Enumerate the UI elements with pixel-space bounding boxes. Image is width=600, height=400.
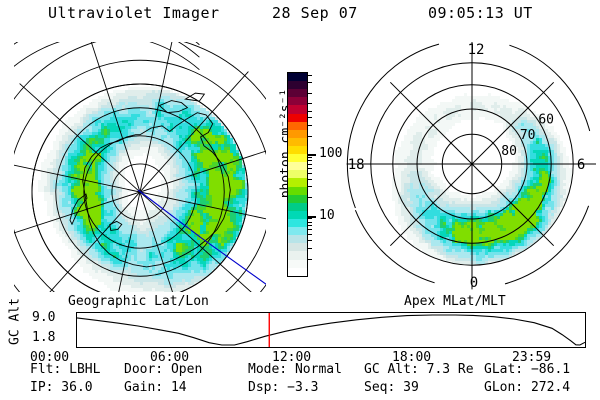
aurora-pixel (164, 258, 167, 261)
aurora-pixel (95, 105, 98, 108)
aurora-pixel (140, 249, 143, 252)
aurora-pixel (92, 129, 95, 132)
aurora-pixel (68, 207, 71, 210)
aurora-pixel (110, 138, 113, 141)
aurora-pixel (92, 177, 95, 180)
aurora-pixel (428, 177, 431, 180)
aurora-pixel (101, 141, 104, 144)
aurora-pixel (218, 135, 221, 138)
aurora-pixel (188, 180, 191, 183)
aurora-pixel (95, 102, 98, 105)
colorbar-segment (288, 122, 307, 130)
aurora-pixel (557, 165, 560, 168)
aurora-pixel (146, 231, 149, 234)
aurora-pixel (68, 153, 71, 156)
aurora-pixel (560, 198, 563, 201)
aurora-pixel (419, 138, 422, 141)
aurora-pixel (206, 144, 209, 147)
aurora-pixel (74, 156, 77, 159)
aurora-pixel (407, 150, 410, 153)
aurora-pixel (149, 105, 152, 108)
aurora-pixel (62, 147, 65, 150)
aurora-pixel (62, 192, 65, 195)
aurora-pixel (41, 186, 44, 189)
aurora-pixel (65, 141, 68, 144)
aurora-pixel (185, 126, 188, 129)
aurora-pixel (185, 195, 188, 198)
aurora-pixel (77, 234, 80, 237)
aurora-pixel (140, 225, 143, 228)
aurora-pixel (116, 189, 119, 192)
aurora-pixel (179, 135, 182, 138)
aurora-pixel (185, 240, 188, 243)
aurora-pixel (452, 114, 455, 117)
aurora-pixel (512, 165, 515, 168)
aurora-pixel (521, 165, 524, 168)
aurora-pixel (515, 165, 518, 168)
aurora-pixel (44, 195, 47, 198)
aurora-pixel (530, 195, 533, 198)
aurora-pixel (38, 186, 41, 189)
aurora-pixel (80, 114, 83, 117)
aurora-pixel (104, 177, 107, 180)
aurora-pixel (167, 291, 170, 292)
aurora-pixel (221, 249, 224, 252)
aurora-pixel (41, 189, 44, 192)
aurora-pixel (212, 162, 215, 165)
aurora-pixel (566, 177, 569, 180)
aurora-pixel (161, 219, 164, 222)
aurora-pixel (239, 192, 242, 195)
aurora-pixel (215, 237, 218, 240)
aurora-pixel (233, 156, 236, 159)
aurora-pixel (404, 165, 407, 168)
aurora-pixel (131, 114, 134, 117)
aurora-pixel (140, 213, 143, 216)
aurora-pixel (395, 207, 398, 210)
aurora-pixel (533, 156, 536, 159)
aurora-pixel (515, 111, 518, 114)
aurora-pixel (146, 228, 149, 231)
aurora-pixel (221, 195, 224, 198)
aurora-pixel (113, 189, 116, 192)
aurora-pixel (458, 117, 461, 120)
aurora-pixel (89, 210, 92, 213)
aurora-pixel (182, 204, 185, 207)
aurora-pixel (110, 93, 113, 96)
aurora-pixel (425, 204, 428, 207)
aurora-pixel (515, 108, 518, 111)
aurora-pixel (563, 189, 566, 192)
aurora-pixel (410, 147, 413, 150)
geographic-map-panel[interactable] (14, 42, 266, 292)
aurora-pixel (182, 237, 185, 240)
aurora-pixel (158, 258, 161, 261)
aurora-pixel (95, 126, 98, 129)
colorbar-segment (288, 73, 307, 81)
aurora-pixel (509, 192, 512, 195)
aurora-pixel (551, 186, 554, 189)
aurora-pixel (443, 204, 446, 207)
aurora-pixel (164, 144, 167, 147)
aurora-pixel (218, 153, 221, 156)
aurora-pixel (212, 180, 215, 183)
aurora-pixel (116, 252, 119, 255)
aurora-pixel (188, 204, 191, 207)
aurora-pixel (158, 132, 161, 135)
aurora-pixel (110, 249, 113, 252)
aurora-pixel (143, 150, 146, 153)
aurora-pixel (431, 177, 434, 180)
aurora-pixel (524, 117, 527, 120)
aurora-pixel (185, 111, 188, 114)
aurora-pixel (77, 231, 80, 234)
aurora-pixel (410, 180, 413, 183)
aurora-pixel (209, 156, 212, 159)
aurora-pixel (437, 183, 440, 186)
aurora-pixel (230, 213, 233, 216)
aurora-pixel (170, 204, 173, 207)
aurora-pixel (503, 204, 506, 207)
aurora-pixel (125, 228, 128, 231)
aurora-pixel (422, 129, 425, 132)
aurora-pixel (191, 252, 194, 255)
aurora-pixel (176, 249, 179, 252)
aurora-pixel (176, 240, 179, 243)
aurora-pixel (191, 177, 194, 180)
aurora-pixel (464, 204, 467, 207)
aurora-pixel (110, 117, 113, 120)
aurora-pixel (173, 270, 176, 273)
aurora-pixel (455, 99, 458, 102)
aurora-pixel (146, 249, 149, 252)
aurora-pixel (551, 192, 554, 195)
aurora-pixel (155, 96, 158, 99)
aurora-pixel (83, 219, 86, 222)
aurora-pixel (107, 276, 110, 279)
aurora-pixel (173, 291, 176, 292)
aurora-pixel (68, 198, 71, 201)
aurora-pixel (560, 165, 563, 168)
aurora-pixel (410, 204, 413, 207)
aurora-pixel (65, 189, 68, 192)
aurora-pixel (110, 213, 113, 216)
aurora-pixel (137, 126, 140, 129)
aurora-pixel (74, 189, 77, 192)
aurora-pixel (71, 252, 74, 255)
aurora-pixel (92, 252, 95, 255)
aurora-pixel (545, 195, 548, 198)
aurora-pixel (158, 201, 161, 204)
aurora-pixel (170, 102, 173, 105)
aurora-pixel (116, 147, 119, 150)
aurora-pixel (107, 153, 110, 156)
aurora-pixel (122, 153, 125, 156)
aurora-pixel (488, 195, 491, 198)
aurora-pixel (236, 222, 239, 225)
aurora-pixel (206, 234, 209, 237)
aurora-pixel (140, 102, 143, 105)
aurora-pixel (395, 174, 398, 177)
aurora-pixel (137, 96, 140, 99)
aurora-pixel (113, 150, 116, 153)
aurora-pixel (86, 225, 89, 228)
aurora-pixel (542, 141, 545, 144)
aurora-pixel (74, 249, 77, 252)
aurora-pixel (191, 216, 194, 219)
aurora-pixel (203, 267, 206, 270)
aurora-pixel (143, 270, 146, 273)
aurora-pixel (518, 153, 521, 156)
aurora-pixel (134, 237, 137, 240)
aurora-pixel (203, 192, 206, 195)
aurora-pixel (431, 180, 434, 183)
aurora-pixel (134, 111, 137, 114)
aurora-pixel (224, 225, 227, 228)
aurora-pixel (209, 231, 212, 234)
aurora-pixel (170, 186, 173, 189)
aurora-pixel (422, 177, 425, 180)
aurora-pixel (143, 87, 146, 90)
aurora-pixel (506, 135, 509, 138)
aurora-pixel (59, 198, 62, 201)
aurora-pixel (191, 180, 194, 183)
aurora-pixel (203, 177, 206, 180)
aurora-pixel (452, 105, 455, 108)
aurora-pixel (218, 174, 221, 177)
aurora-pixel (422, 165, 425, 168)
aurora-pixel (128, 219, 131, 222)
aurora-pixel (107, 231, 110, 234)
aurora-pixel (440, 201, 443, 204)
aurora-pixel (59, 231, 62, 234)
aurora-pixel (71, 126, 74, 129)
aurora-pixel (218, 231, 221, 234)
aurora-pixel (233, 150, 236, 153)
aurora-pixel (230, 207, 233, 210)
aurora-pixel (107, 282, 110, 285)
aurora-pixel (77, 171, 80, 174)
aurora-pixel (500, 105, 503, 108)
aurora-pixel (236, 183, 239, 186)
aurora-pixel (455, 102, 458, 105)
aurora-pixel (86, 234, 89, 237)
aurora-pixel (155, 102, 158, 105)
aurora-pixel (464, 96, 467, 99)
aurora-pixel (122, 171, 125, 174)
aurora-pixel (224, 243, 227, 246)
aurora-pixel (467, 117, 470, 120)
aurora-pixel (80, 186, 83, 189)
aurora-pixel (101, 276, 104, 279)
aurora-pixel (131, 291, 134, 292)
aurora-pixel (197, 180, 200, 183)
aurora-pixel (110, 267, 113, 270)
aurora-pixel (92, 246, 95, 249)
mlt-dial-panel[interactable]: 121860807060 (344, 42, 596, 292)
aurora-pixel (134, 102, 137, 105)
aurora-pixel (95, 171, 98, 174)
aurora-pixel (500, 195, 503, 198)
aurora-pixel (74, 228, 77, 231)
aurora-pixel (83, 249, 86, 252)
aurora-pixel (203, 111, 206, 114)
aurora-pixel (80, 126, 83, 129)
aurora-pixel (176, 144, 179, 147)
aurora-pixel (503, 192, 506, 195)
aurora-pixel (119, 111, 122, 114)
aurora-pixel (131, 261, 134, 264)
aurora-pixel (509, 189, 512, 192)
aurora-pixel (56, 228, 59, 231)
aurora-pixel (548, 204, 551, 207)
aurora-pixel (131, 270, 134, 273)
aurora-pixel (530, 180, 533, 183)
aurora-pixel (143, 273, 146, 276)
aurora-pixel (539, 156, 542, 159)
aurora-pixel (116, 285, 119, 288)
aurora-pixel (119, 216, 122, 219)
aurora-pixel (98, 225, 101, 228)
aurora-pixel (209, 189, 212, 192)
aurora-pixel (236, 201, 239, 204)
aurora-pixel (56, 189, 59, 192)
aurora-pixel (89, 174, 92, 177)
aurora-pixel (233, 183, 236, 186)
aurora-pixel (71, 147, 74, 150)
aurora-pixel (503, 186, 506, 189)
aurora-pixel (113, 246, 116, 249)
colorbar-minor-tick (308, 248, 312, 249)
aurora-pixel (203, 195, 206, 198)
aurora-pixel (176, 192, 179, 195)
aurora-pixel (80, 231, 83, 234)
aurora-pixel (542, 186, 545, 189)
aurora-pixel (65, 222, 68, 225)
aurora-pixel (512, 105, 515, 108)
aurora-pixel (209, 213, 212, 216)
aurora-pixel (140, 96, 143, 99)
aurora-pixel (119, 102, 122, 105)
aurora-pixel (410, 171, 413, 174)
aurora-pixel (392, 192, 395, 195)
aurora-pixel (461, 111, 464, 114)
aurora-pixel (89, 183, 92, 186)
aurora-pixel (92, 198, 95, 201)
aurora-pixel (200, 183, 203, 186)
aurora-pixel (458, 204, 461, 207)
aurora-pixel (242, 180, 245, 183)
aurora-pixel (65, 162, 68, 165)
aurora-pixel (407, 135, 410, 138)
aurora-pixel (89, 231, 92, 234)
aurora-pixel (140, 258, 143, 261)
aurora-pixel (185, 123, 188, 126)
aurora-pixel (173, 201, 176, 204)
aurora-pixel (173, 159, 176, 162)
aurora-pixel (536, 141, 539, 144)
aurora-pixel (218, 183, 221, 186)
aurora-pixel (176, 93, 179, 96)
aurora-pixel (152, 90, 155, 93)
aurora-pixel (71, 186, 74, 189)
aurora-pixel (122, 204, 125, 207)
aurora-pixel (179, 186, 182, 189)
aurora-pixel (419, 150, 422, 153)
aurora-pixel (236, 219, 239, 222)
aurora-pixel (509, 105, 512, 108)
aurora-pixel (539, 165, 542, 168)
aurora-pixel (86, 129, 89, 132)
aurora-pixel (119, 117, 122, 120)
aurora-pixel (212, 156, 215, 159)
aurora-pixel (413, 198, 416, 201)
aurora-pixel (53, 201, 56, 204)
aurora-pixel (119, 123, 122, 126)
aurora-pixel (158, 129, 161, 132)
aurora-pixel (89, 150, 92, 153)
aurora-pixel (440, 189, 443, 192)
aurora-pixel (422, 183, 425, 186)
aurora-pixel (164, 168, 167, 171)
aurora-pixel (197, 108, 200, 111)
aurora-pixel (200, 159, 203, 162)
aurora-pixel (164, 156, 167, 159)
aurora-pixel (173, 213, 176, 216)
aurora-pixel (152, 156, 155, 159)
aurora-pixel (194, 150, 197, 153)
aurora-pixel (101, 177, 104, 180)
aurora-pixel (128, 117, 131, 120)
aurora-pixel (467, 195, 470, 198)
aurora-pixel (152, 150, 155, 153)
aurora-pixel (113, 132, 116, 135)
aurora-pixel (218, 141, 221, 144)
aurora-pixel (431, 120, 434, 123)
aurora-pixel (512, 138, 515, 141)
aurora-pixel (143, 126, 146, 129)
aurora-pixel (494, 120, 497, 123)
aurora-pixel (398, 171, 401, 174)
aurora-pixel (551, 132, 554, 135)
aurora-pixel (83, 120, 86, 123)
aurora-pixel (164, 285, 167, 288)
aurora-pixel (140, 291, 143, 292)
aurora-pixel (194, 249, 197, 252)
aurora-pixel (140, 111, 143, 114)
aurora-pixel (95, 210, 98, 213)
aurora-pixel (200, 189, 203, 192)
aurora-pixel (224, 180, 227, 183)
aurora-pixel (170, 177, 173, 180)
aurora-pixel (485, 96, 488, 99)
aurora-pixel (194, 210, 197, 213)
aurora-pixel (146, 126, 149, 129)
aurora-pixel (419, 201, 422, 204)
aurora-pixel (197, 198, 200, 201)
aurora-pixel (233, 195, 236, 198)
aurora-pixel (122, 216, 125, 219)
aurora-pixel (482, 105, 485, 108)
aurora-pixel (83, 234, 86, 237)
aurora-pixel (83, 114, 86, 117)
aurora-pixel (407, 144, 410, 147)
aurora-pixel (173, 264, 176, 267)
aurora-pixel (149, 102, 152, 105)
aurora-pixel (143, 291, 146, 292)
aurora-pixel (446, 102, 449, 105)
aurora-pixel (230, 174, 233, 177)
